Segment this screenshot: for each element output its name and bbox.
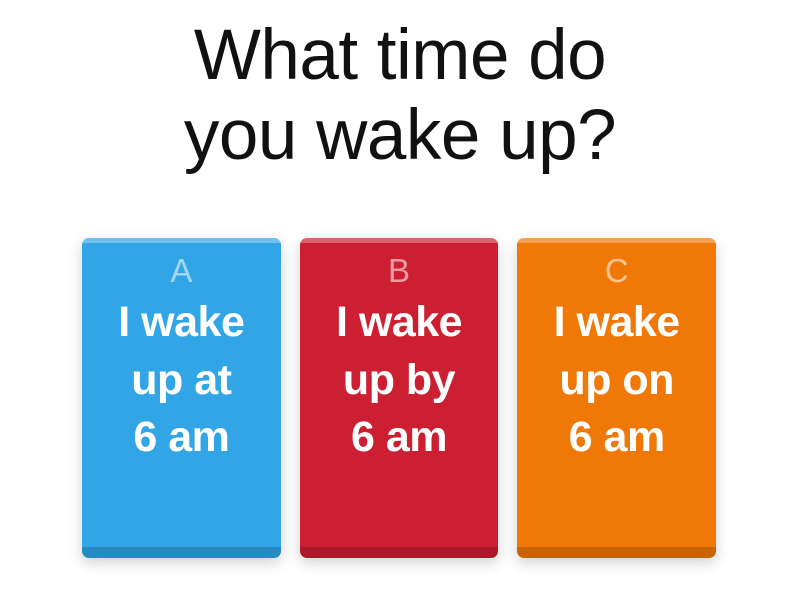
answer-letter-a: A	[90, 252, 273, 290]
answer-text-c: I wake up on 6 am	[525, 294, 708, 467]
answer-option-a[interactable]: A I wake up at 6 am	[82, 238, 281, 558]
answer-letter-c: C	[525, 252, 708, 290]
answer-text-a: I wake up at 6 am	[90, 294, 273, 467]
answer-option-b[interactable]: B I wake up by 6 am	[300, 238, 499, 558]
answer-letter-b: B	[308, 252, 491, 290]
answer-options-row: A I wake up at 6 am B I wake up by 6 am …	[82, 238, 716, 560]
answer-text-b: I wake up by 6 am	[308, 294, 491, 467]
page-title: What time do you wake up?	[0, 16, 800, 176]
answer-option-c[interactable]: C I wake up on 6 am	[517, 238, 716, 558]
quiz-stage: What time do you wake up? A I wake up at…	[0, 0, 800, 600]
